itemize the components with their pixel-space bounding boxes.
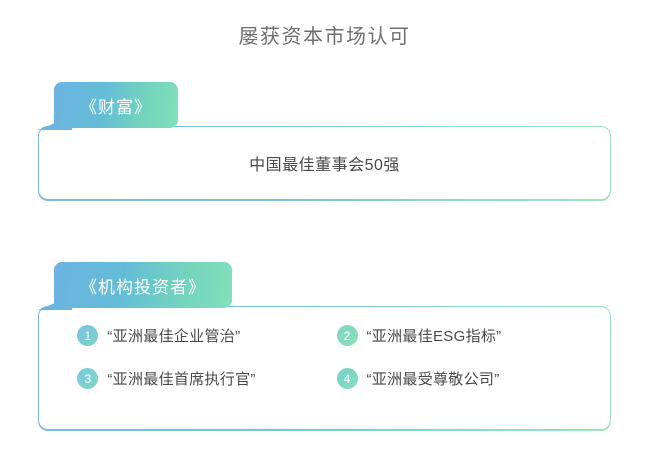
section-institutional-investor: 《机构投资者》 1 “亚洲最佳企业管治” 2 “亚洲最佳ESG指标” 3 “亚洲… [38, 262, 611, 431]
tab-label-fortune[interactable]: 《财富》 [54, 82, 178, 128]
infographic-page: 屡获资本市场认可 《财富》 中国最佳董事会50强 《机构投资者》 1 “亚洲最佳… [0, 0, 649, 456]
card-fortune: 中国最佳董事会50强 [38, 126, 611, 201]
number-badge-icon: 2 [337, 325, 358, 346]
number-badge-icon: 3 [77, 368, 98, 389]
list-item[interactable]: 3 “亚洲最佳首席执行官” [77, 368, 326, 389]
award-label: “亚洲最受尊敬公司” [367, 368, 500, 389]
award-label: “亚洲最佳ESG指标” [367, 325, 502, 346]
card-inner-investor: 1 “亚洲最佳企业管治” 2 “亚洲最佳ESG指标” 3 “亚洲最佳首席执行官”… [39, 307, 609, 429]
list-item[interactable]: 2 “亚洲最佳ESG指标” [337, 325, 586, 346]
card-investor: 1 “亚洲最佳企业管治” 2 “亚洲最佳ESG指标” 3 “亚洲最佳首席执行官”… [38, 306, 611, 431]
tab-wrap-fortune: 《财富》 [38, 82, 611, 132]
list-item[interactable]: 1 “亚洲最佳企业管治” [77, 325, 326, 346]
number-badge-icon: 4 [337, 368, 358, 389]
award-label: “亚洲最佳企业管治” [107, 325, 240, 346]
number-badge-icon: 1 [77, 325, 98, 346]
award-list: 1 “亚洲最佳企业管治” 2 “亚洲最佳ESG指标” 3 “亚洲最佳首席执行官”… [63, 325, 585, 389]
section-fortune: 《财富》 中国最佳董事会50强 [38, 82, 611, 201]
tab-wrap-investor: 《机构投资者》 [38, 262, 611, 312]
award-text-fortune: 中国最佳董事会50强 [249, 151, 400, 175]
card-inner-fortune: 中国最佳董事会50强 [39, 127, 609, 199]
list-item[interactable]: 4 “亚洲最受尊敬公司” [337, 368, 586, 389]
tab-label-investor[interactable]: 《机构投资者》 [54, 262, 232, 308]
page-title: 屡获资本市场认可 [0, 20, 649, 49]
award-label: “亚洲最佳首席执行官” [107, 368, 255, 389]
